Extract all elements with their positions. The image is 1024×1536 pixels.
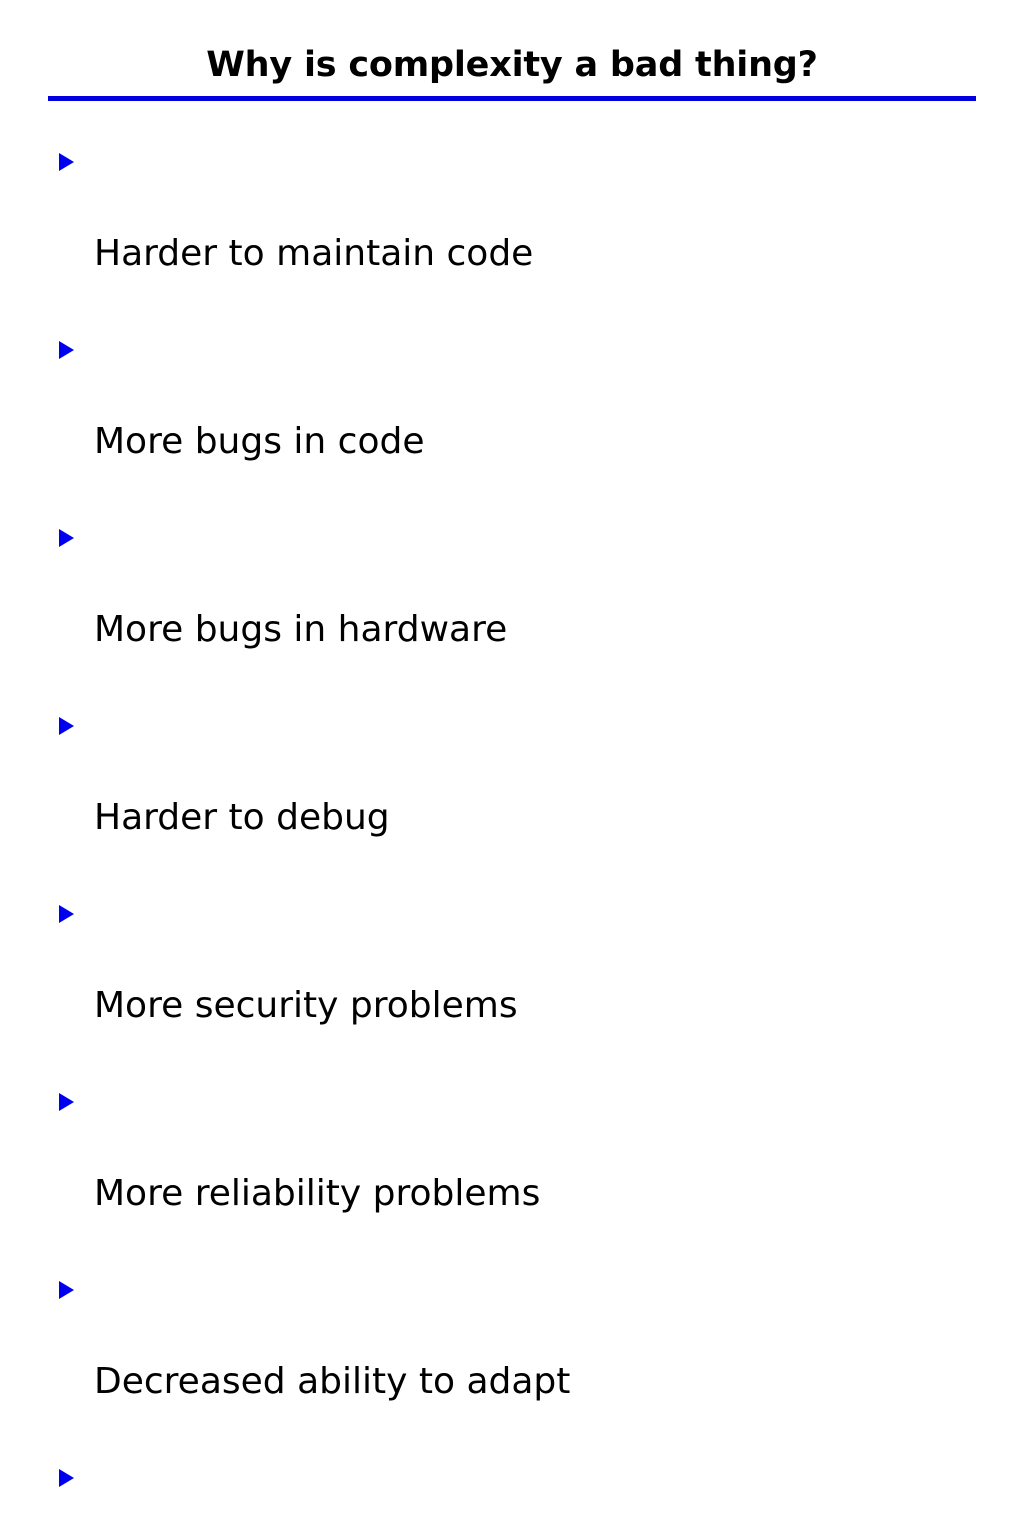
- list-item: More bugs in hardware: [56, 512, 986, 700]
- presentation-slide: Why is complexity a bad thing? Harder to…: [0, 0, 1024, 768]
- list-item-label: More security problems: [94, 982, 986, 1029]
- page-title: Why is complexity a bad thing?: [0, 44, 1024, 86]
- list-item: Harder to maintain code: [56, 136, 986, 324]
- triangle-right-icon: [59, 529, 74, 547]
- list-item-label: Harder to debug: [94, 794, 986, 841]
- triangle-right-icon: [59, 153, 74, 171]
- triangle-right-icon: [59, 1281, 74, 1299]
- list-item: Decreased ability to adapt: [56, 1264, 986, 1452]
- triangle-right-icon: [59, 717, 74, 735]
- list-item-label: Harder to maintain code: [94, 230, 986, 277]
- list-item: It is assumed you have a car/windows/pho…: [56, 1452, 986, 1536]
- title-underline-divider: [48, 96, 976, 101]
- list-item: Harder to debug: [56, 700, 986, 888]
- list-item: More bugs in code: [56, 324, 986, 512]
- title-block: Why is complexity a bad thing?: [0, 44, 1024, 86]
- list-item-label: Decreased ability to adapt: [94, 1358, 986, 1405]
- triangle-right-icon: [59, 1469, 74, 1487]
- list-item-label: More reliability problems: [94, 1170, 986, 1217]
- list-item: More reliability problems: [56, 1076, 986, 1264]
- bullet-list: Harder to maintain code More bugs in cod…: [56, 136, 986, 1536]
- triangle-right-icon: [59, 1093, 74, 1111]
- triangle-right-icon: [59, 905, 74, 923]
- list-item-label: More bugs in hardware: [94, 606, 986, 653]
- triangle-right-icon: [59, 341, 74, 359]
- list-item-label: More bugs in code: [94, 418, 986, 465]
- list-item: More security problems: [56, 888, 986, 1076]
